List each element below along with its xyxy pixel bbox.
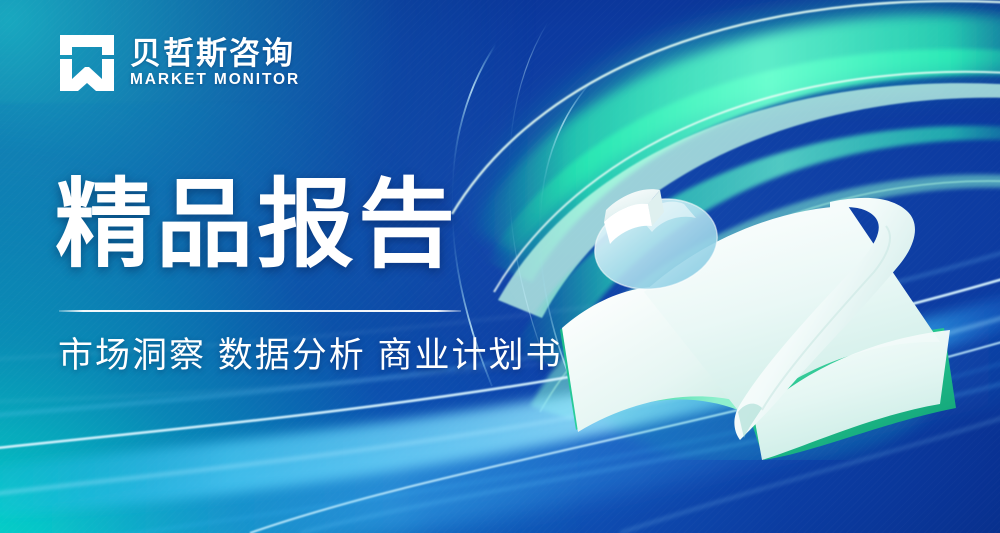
title-divider xyxy=(59,310,461,312)
page-subtitle: 市场洞察 数据分析 商业计划书 xyxy=(58,337,562,376)
market-monitor-m-logo-icon xyxy=(58,33,116,93)
open-book-illustration xyxy=(548,160,968,460)
brand-logo: 贝哲斯咨询 MARKET MONITOR xyxy=(58,33,300,93)
promo-banner: 贝哲斯咨询 MARKET MONITOR 精品报告 市场洞察 数据分析 商业计划… xyxy=(0,0,1000,533)
brand-logo-text: 贝哲斯咨询 MARKET MONITOR xyxy=(130,38,300,88)
brand-name-en: MARKET MONITOR xyxy=(130,72,300,88)
page-title: 精品报告 xyxy=(55,176,459,273)
brand-name-cn: 贝哲斯咨询 xyxy=(130,38,300,70)
